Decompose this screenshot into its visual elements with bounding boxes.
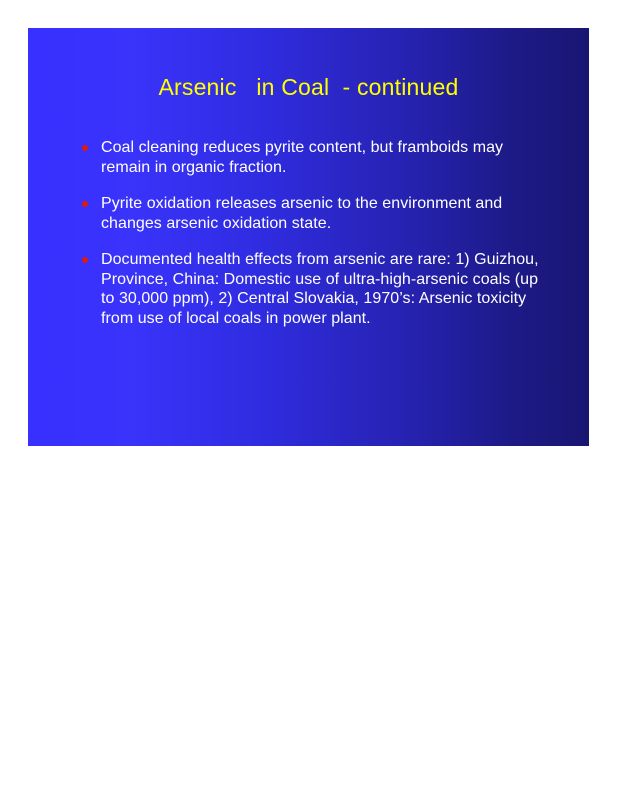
list-item: Coal cleaning reduces pyrite content, bu… [79,138,554,177]
list-item-text: Pyrite oxidation releases arsenic to the… [101,194,554,233]
list-item: Documented health effects from arsenic a… [79,250,554,328]
list-item-text: Documented health effects from arsenic a… [101,250,554,328]
bullet-list: Coal cleaning reduces pyrite content, bu… [79,138,554,328]
list-item: Pyrite oxidation releases arsenic to the… [79,194,554,233]
presentation-slide: Arsenic in Coal - continued Coal cleanin… [28,28,589,446]
page-root: Arsenic in Coal - continued Coal cleanin… [0,0,618,800]
bullet-dot-icon [82,145,88,151]
list-item-text: Coal cleaning reduces pyrite content, bu… [101,138,554,177]
bullet-dot-icon [82,257,88,263]
bullet-dot-icon [82,201,88,207]
page-title: Arsenic in Coal - continued [28,74,589,100]
